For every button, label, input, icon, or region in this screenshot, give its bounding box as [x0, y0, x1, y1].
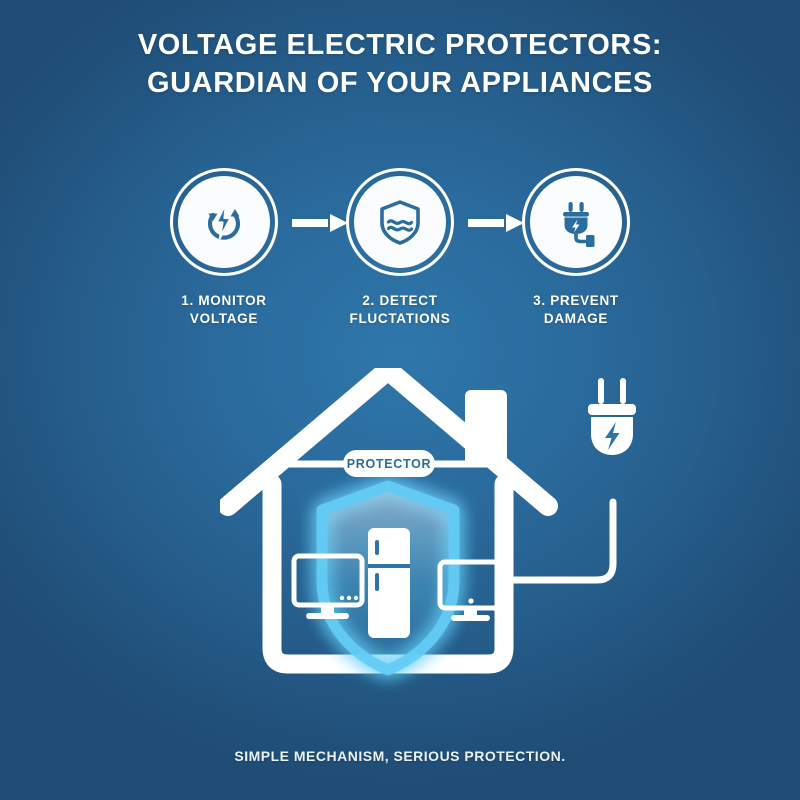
- house-illustration: PROTECTOR: [220, 368, 660, 698]
- shield-wave-icon: [373, 195, 427, 249]
- protector-badge-label: PROTECTOR: [347, 457, 432, 471]
- step-1-label-line-2: VOLTAGE: [144, 310, 304, 328]
- step-2-label: 2. DETECT FLUCTATIONS: [320, 292, 480, 328]
- voltage-monitor-icon: [195, 193, 253, 251]
- title-line-2: GUARDIAN OF YOUR APPLIANCES: [0, 64, 800, 102]
- refrigerator-icon: [368, 528, 410, 638]
- title-line-1: VOLTAGE ELECTRIC PROTECTORS:: [0, 26, 800, 64]
- step-3-label-line-2: DAMAGE: [496, 310, 656, 328]
- step-3-label-line-1: 3. PREVENT: [533, 293, 619, 308]
- step-3-circle: [522, 168, 630, 276]
- power-plug-icon: [588, 378, 636, 455]
- protector-badge: PROTECTOR: [343, 450, 435, 477]
- step-3-label: 3. PREVENT DAMAGE: [496, 292, 656, 328]
- step-3-disc: [530, 176, 622, 268]
- infographic-canvas: VOLTAGE ELECTRIC PROTECTORS: GUARDIAN OF…: [0, 0, 800, 800]
- footer-tagline: SIMPLE MECHANISM, SERIOUS PROTECTION.: [0, 748, 800, 764]
- step-2-label-line-1: 2. DETECT: [362, 293, 437, 308]
- step-2-disc: [354, 176, 446, 268]
- step-1-circle: [170, 168, 278, 276]
- step-monitor-voltage: 1. MONITOR VOLTAGE: [144, 168, 304, 328]
- step-1-disc: [178, 176, 270, 268]
- step-1-label: 1. MONITOR VOLTAGE: [144, 292, 304, 328]
- step-detect-fluctations: 2. DETECT FLUCTATIONS: [320, 168, 480, 328]
- plug-bolt-icon: [549, 195, 603, 249]
- steps-row: 1. MONITOR VOLTAGE: [0, 168, 800, 343]
- step-1-label-line-1: 1. MONITOR: [181, 293, 267, 308]
- page-title: VOLTAGE ELECTRIC PROTECTORS: GUARDIAN OF…: [0, 26, 800, 103]
- step-prevent-damage: 3. PREVENT DAMAGE: [496, 168, 656, 328]
- step-2-circle: [346, 168, 454, 276]
- step-2-label-line-2: FLUCTATIONS: [320, 310, 480, 328]
- power-cord: [506, 502, 613, 580]
